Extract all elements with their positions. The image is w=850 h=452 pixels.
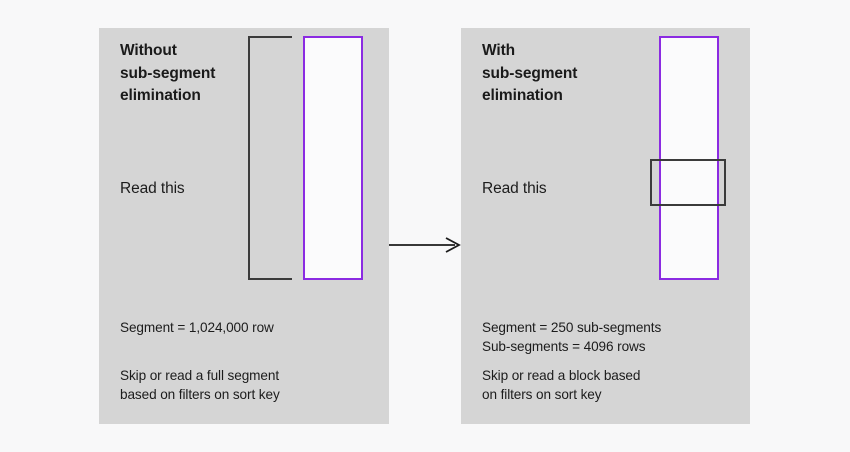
segment-column	[303, 36, 363, 280]
right-panel-title: With sub-segment elimination	[482, 40, 632, 108]
right-read-this-label: Read this	[482, 180, 547, 198]
right-segment-stats: Segment = 250 sub-segments Sub-segments …	[482, 318, 661, 356]
right-segment-description: Skip or read a block based on filters on…	[482, 366, 640, 405]
sub-segment-block	[650, 159, 726, 206]
full-segment-bracket	[248, 36, 292, 280]
left-segment-stats: Segment = 1,024,000 row	[120, 318, 274, 337]
left-segment-description: Skip or read a full segment based on fil…	[120, 366, 280, 405]
panel-with-sub-segment-elimination: With sub-segment elimination Read this S…	[461, 28, 750, 424]
diagram-root: Without sub-segment elimination Read thi…	[0, 0, 850, 452]
segment-column	[659, 36, 719, 280]
right-arrow-icon	[389, 232, 463, 258]
left-read-this-label: Read this	[120, 180, 185, 198]
panel-without-sub-segment-elimination: Without sub-segment elimination Read thi…	[99, 28, 389, 424]
